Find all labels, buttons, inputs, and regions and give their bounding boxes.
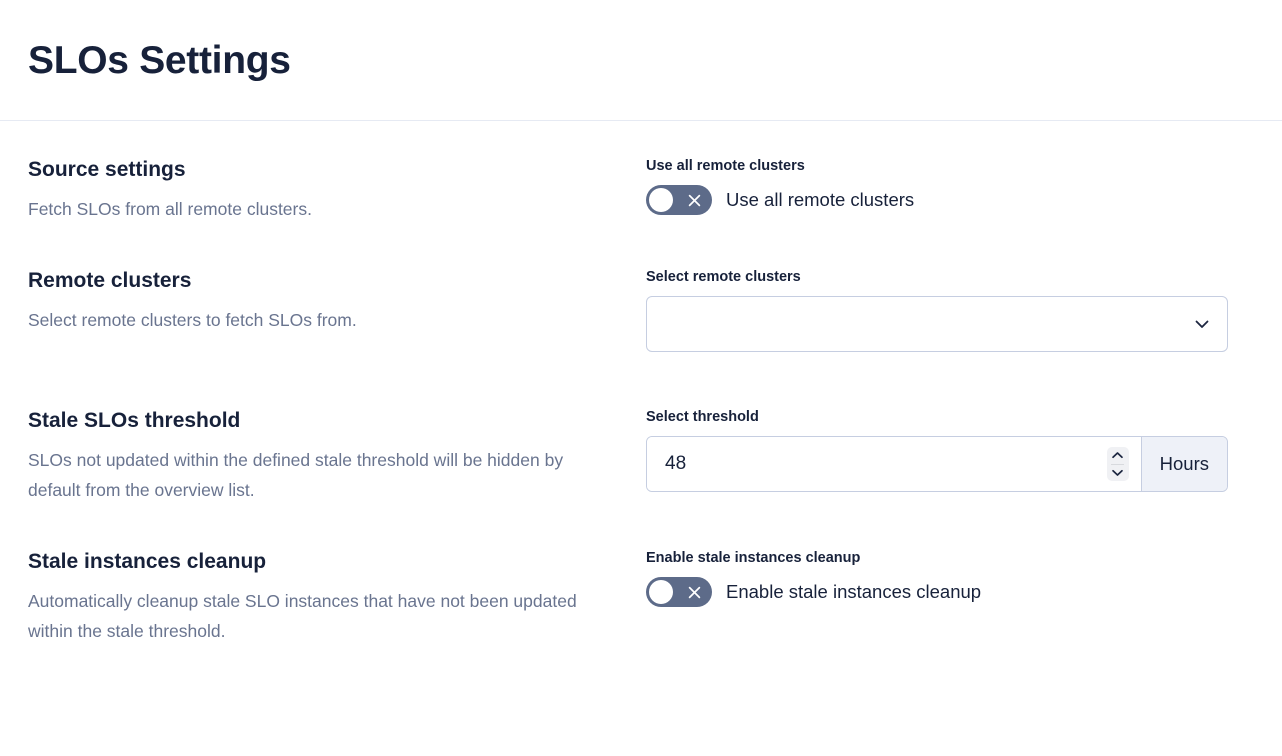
- slos-settings-page: SLOs Settings Source settings Fetch SLOs…: [0, 0, 1282, 756]
- section-description-stale-slos-threshold: SLOs not updated within the defined stal…: [28, 445, 618, 505]
- chevron-down-icon: [1191, 313, 1213, 335]
- section-remote-clusters-description-column: Remote clusters Select remote clusters t…: [28, 268, 646, 335]
- page-title: SLOs Settings: [28, 41, 291, 80]
- section-source-settings-control-column: Use all remote clusters Use all remote c…: [646, 157, 1228, 215]
- close-icon: [676, 185, 712, 215]
- section-stale-slos-threshold-description-column: Stale SLOs threshold SLOs not updated wi…: [28, 408, 646, 505]
- toggle-label-enable-stale-instances-cleanup[interactable]: Enable stale instances cleanup: [726, 580, 981, 604]
- section-spacer: [28, 224, 1228, 268]
- section-stale-slos-threshold-control-column: Select threshold 48: [646, 408, 1228, 492]
- section-heading-remote-clusters: Remote clusters: [28, 268, 622, 294]
- section-description-remote-clusters: Select remote clusters to fetch SLOs fro…: [28, 305, 618, 335]
- quantity-stepper[interactable]: [1107, 447, 1129, 481]
- section-description-source-settings: Fetch SLOs from all remote clusters.: [28, 194, 618, 224]
- section-remote-clusters: Remote clusters Select remote clusters t…: [28, 268, 1228, 352]
- toggle-use-all-remote-clusters[interactable]: [646, 185, 712, 215]
- toggle-thumb: [649, 580, 673, 604]
- chevron-down-icon[interactable]: [1107, 465, 1129, 481]
- section-stale-instances-cleanup: Stale instances cleanup Automatically cl…: [28, 549, 1228, 646]
- threshold-number-input[interactable]: 48: [647, 437, 1141, 491]
- section-stale-instances-cleanup-control-column: Enable stale instances cleanup Enable st…: [646, 549, 1228, 607]
- section-stale-slos-threshold: Stale SLOs threshold SLOs not updated wi…: [28, 408, 1228, 505]
- section-heading-stale-slos-threshold: Stale SLOs threshold: [28, 408, 622, 434]
- section-remote-clusters-control-column: Select remote clusters: [646, 268, 1228, 352]
- page-header: SLOs Settings: [0, 0, 1282, 121]
- section-source-settings-description-column: Source settings Fetch SLOs from all remo…: [28, 157, 646, 224]
- label-select-threshold: Select threshold: [646, 408, 1228, 426]
- threshold-value: 48: [665, 452, 686, 476]
- section-heading-stale-instances-cleanup: Stale instances cleanup: [28, 549, 622, 575]
- close-icon: [676, 577, 712, 607]
- settings-body: Source settings Fetch SLOs from all remo…: [0, 121, 1282, 646]
- threshold-input-group: 48: [646, 436, 1228, 492]
- section-stale-instances-cleanup-description-column: Stale instances cleanup Automatically cl…: [28, 549, 646, 646]
- section-heading-source-settings: Source settings: [28, 157, 622, 183]
- threshold-unit-addon: Hours: [1141, 437, 1227, 491]
- section-source-settings: Source settings Fetch SLOs from all remo…: [28, 157, 1228, 224]
- label-enable-stale-instances-cleanup: Enable stale instances cleanup: [646, 549, 1228, 567]
- select-remote-clusters[interactable]: [646, 296, 1228, 352]
- toggle-thumb: [649, 188, 673, 212]
- toggle-enable-stale-instances-cleanup[interactable]: [646, 577, 712, 607]
- label-select-remote-clusters: Select remote clusters: [646, 268, 1228, 286]
- section-spacer: [28, 505, 1228, 549]
- label-use-all-remote-clusters: Use all remote clusters: [646, 157, 1228, 175]
- toggle-row-enable-stale-instances-cleanup: Enable stale instances cleanup: [646, 577, 1228, 607]
- toggle-label-use-all-remote-clusters[interactable]: Use all remote clusters: [726, 188, 914, 212]
- section-spacer: [28, 352, 1228, 408]
- section-description-stale-instances-cleanup: Automatically cleanup stale SLO instance…: [28, 586, 618, 646]
- toggle-row-use-all-remote-clusters: Use all remote clusters: [646, 185, 1228, 215]
- chevron-up-icon[interactable]: [1107, 448, 1129, 464]
